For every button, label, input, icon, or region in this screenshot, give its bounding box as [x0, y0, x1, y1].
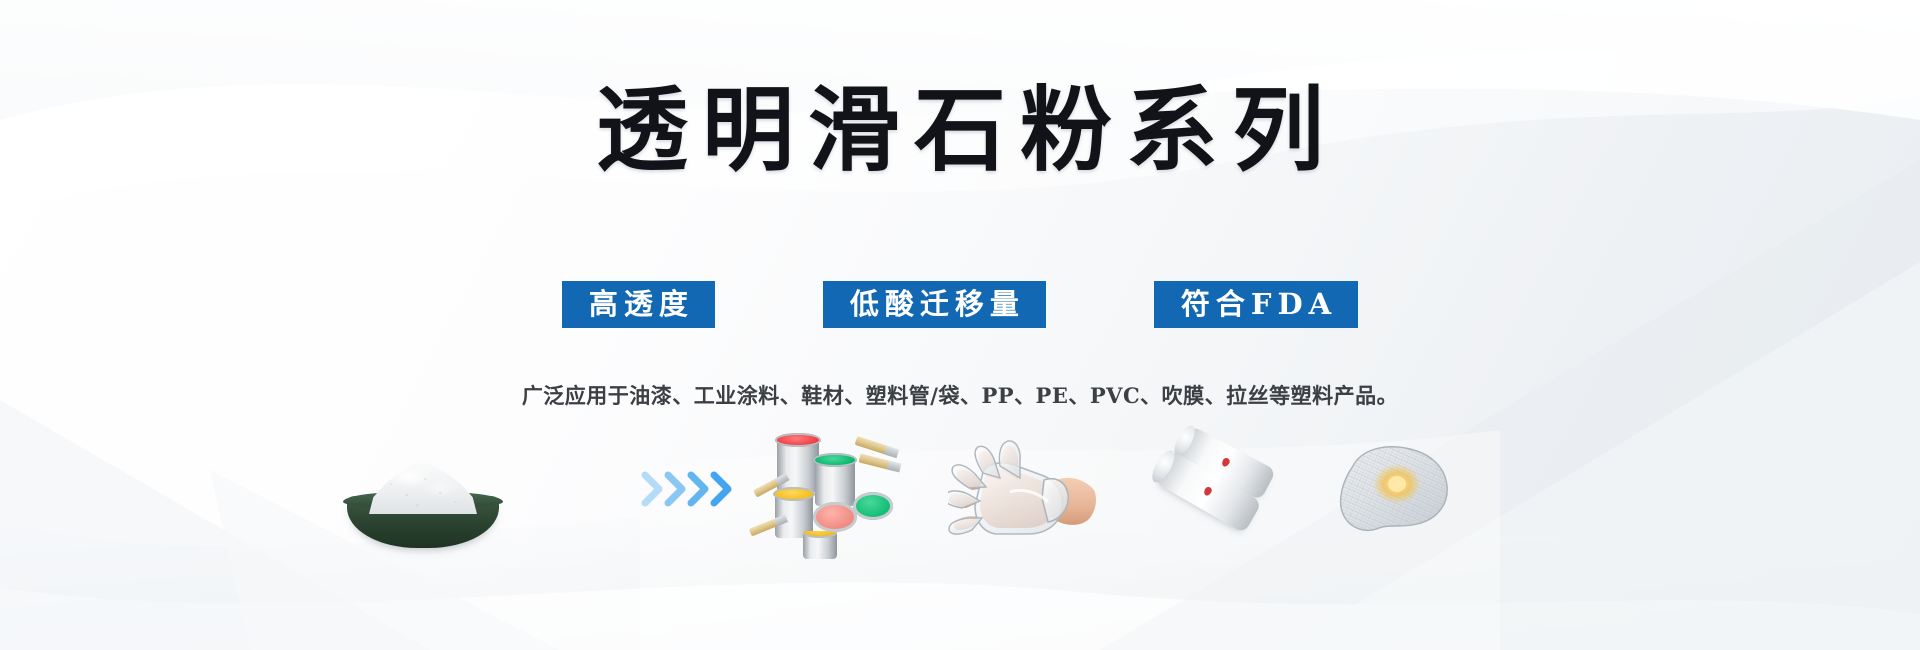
- paint-can-green-lid: [813, 453, 857, 467]
- film-rolls-image: [1148, 444, 1288, 550]
- talc-powder-bowl-image: [333, 458, 513, 553]
- paint-disc-green: [853, 492, 893, 520]
- paint-can-red-lid: [775, 433, 821, 447]
- product-banner: 透明滑石粉系列 高透度 低酸迁移量 符合FDA 广泛应用于油漆、工业涂料、鞋材、…: [0, 0, 1920, 650]
- feature-badge-list: 高透度 低酸迁移量 符合FDA: [0, 281, 1920, 328]
- paint-disc-pink: [813, 502, 857, 532]
- feature-badge-fda-compliant[interactable]: 符合FDA: [1154, 281, 1358, 328]
- paint-can-green: [815, 460, 855, 506]
- process-arrows-icon: [640, 468, 744, 510]
- banner-title: 透明滑石粉系列: [0, 78, 1920, 182]
- feature-badge-high-transparency[interactable]: 高透度: [562, 281, 715, 328]
- illustration-strip: [0, 418, 1920, 568]
- powder-texture-shape: [369, 464, 477, 514]
- paint-can-yellow-bottom: [803, 531, 837, 559]
- paint-cans-image: [755, 426, 895, 556]
- feature-badge-low-acid-migration[interactable]: 低酸迁移量: [823, 281, 1046, 328]
- shoe-sole-image: [1335, 440, 1455, 552]
- gloved-hand-image: [948, 436, 1098, 554]
- paint-can-red: [777, 440, 819, 492]
- paint-can-yellow-lid: [773, 487, 815, 501]
- banner-subtitle: 广泛应用于油漆、工业涂料、鞋材、塑料管/袋、PP、PE、PVC、吹膜、拉丝等塑料…: [0, 381, 1920, 411]
